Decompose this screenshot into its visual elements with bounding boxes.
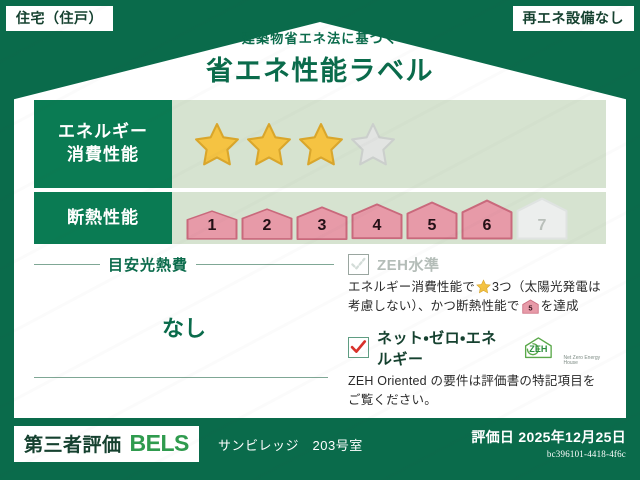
insulation-level-number: 7 bbox=[538, 217, 547, 240]
label-footer: 第三者評価 BELS サンビレッジ 203号室 評価日 2025年12月25日 … bbox=[0, 418, 640, 480]
zeh-suijun-description-pre: エネルギー消費性能で bbox=[348, 280, 475, 294]
energy-star-rating bbox=[172, 100, 606, 188]
insulation-level-4: 4 bbox=[351, 203, 403, 240]
insulation-badge-icon-inline: 5 bbox=[522, 299, 539, 314]
checkmark-icon-muted bbox=[350, 255, 367, 273]
third-party-evaluation-text: 第三者評価 bbox=[24, 430, 122, 457]
net-zero-energy-checkbox[interactable] bbox=[348, 337, 369, 358]
bels-certification-plate: 第三者評価 BELS bbox=[14, 426, 199, 462]
heading-rule-right bbox=[196, 264, 334, 265]
insulation-level-3: 3 bbox=[296, 206, 348, 240]
zeh-suijun-description: エネルギー消費性能で3つ（太陽光発電は考慮しない）、かつ断熱性能で5を達成 bbox=[348, 278, 606, 317]
zeh-suijun-checkbox[interactable] bbox=[348, 254, 369, 275]
star-icon-filled bbox=[298, 121, 344, 167]
checklist-item-zeh-suijun: ZEH水準 エネルギー消費性能で3つ（太陽光発電は考慮しない）、かつ断熱性能で5… bbox=[348, 254, 606, 317]
insulation-level-number: 2 bbox=[263, 217, 272, 240]
energy-performance-label: エネルギー 消費性能 bbox=[34, 100, 172, 188]
svg-text:ZEH: ZEH bbox=[529, 344, 547, 354]
insulation-performance-row: 断熱性能 1234567 bbox=[34, 192, 606, 244]
insulation-level-1: 1 bbox=[186, 210, 238, 240]
heading-rule-left bbox=[34, 264, 100, 265]
zeh-logo-subtext: Net Zero Energy House bbox=[563, 356, 606, 369]
insulation-level-number: 6 bbox=[483, 217, 492, 240]
star-icon-empty bbox=[350, 121, 396, 167]
energy-performance-row: エネルギー 消費性能 bbox=[34, 100, 606, 188]
net-zero-energy-description: ZEH Oriented の要件は評価書の特記項目をご覧ください。 bbox=[348, 372, 606, 411]
estimated-utility-cost-panel: 目安光熱費 なし bbox=[34, 254, 342, 421]
zeh-suijun-description-post: を達成 bbox=[541, 299, 579, 313]
certification-checklist: ZEH水準 エネルギー消費性能で3つ（太陽光発電は考慮しない）、かつ断熱性能で5… bbox=[342, 254, 606, 421]
energy-performance-label-line2: 消費性能 bbox=[67, 144, 139, 167]
insulation-level-number: 1 bbox=[208, 217, 217, 240]
estimated-utility-cost-heading-text: 目安光熱費 bbox=[108, 254, 188, 275]
star-icon-filled bbox=[246, 121, 292, 167]
evaluation-date: 評価日 2025年12月25日 bbox=[471, 427, 626, 447]
cost-panel-bottom-rule bbox=[34, 377, 328, 378]
insulation-performance-label: 断熱性能 bbox=[34, 192, 172, 244]
estimated-utility-cost-heading: 目安光熱費 bbox=[34, 254, 334, 275]
insulation-level-scale: 1234567 bbox=[186, 197, 568, 244]
zeh-logo-icon: ZEH bbox=[522, 333, 556, 363]
estimated-utility-cost-value: なし bbox=[34, 275, 334, 377]
checklist-item-net-zero-energy: ネット・ゼロ・エネルギー ZEH Net Zero Energy House Z… bbox=[348, 327, 606, 411]
insulation-performance-label-text: 断熱性能 bbox=[67, 207, 139, 230]
insulation-level-7: 7 bbox=[516, 197, 568, 240]
star-icon-inline bbox=[476, 279, 491, 294]
star-icon-filled bbox=[194, 121, 240, 167]
insulation-level-number: 5 bbox=[428, 217, 437, 240]
building-name: サンビレッジ 203号室 bbox=[218, 435, 363, 454]
energy-performance-label: 住宅（住戸） 再エネ設備なし 建築物省エネ法に基づく 省エネ性能ラベル エネルギ… bbox=[0, 0, 640, 480]
evaluation-id: bc396101-4418-4f6c bbox=[471, 449, 626, 459]
insulation-level-number: 4 bbox=[373, 217, 382, 240]
evaluation-info: 評価日 2025年12月25日 bc396101-4418-4f6c bbox=[471, 427, 626, 459]
bels-logo-text: BELS bbox=[130, 430, 189, 457]
energy-performance-label-line1: エネルギー bbox=[58, 121, 148, 144]
zeh-suijun-title: ZEH水準 bbox=[377, 254, 440, 275]
net-zero-energy-title: ネット・ゼロ・エネルギー bbox=[377, 327, 512, 369]
label-lower-section: 目安光熱費 なし ZEH水準 bbox=[34, 254, 606, 421]
badge-building-type: 住宅（住戸） bbox=[6, 6, 113, 31]
svg-text:5: 5 bbox=[528, 304, 532, 313]
badge-renewable-equipment: 再エネ設備なし bbox=[513, 6, 635, 31]
insulation-level-2: 2 bbox=[241, 208, 293, 240]
label-content: エネルギー 消費性能 断熱性能 1234567 目安光熱費 なし bbox=[34, 100, 606, 421]
insulation-level-5: 5 bbox=[406, 201, 458, 240]
insulation-level-6: 6 bbox=[461, 199, 513, 240]
insulation-level-number: 3 bbox=[318, 217, 327, 240]
checkmark-icon bbox=[350, 338, 367, 356]
